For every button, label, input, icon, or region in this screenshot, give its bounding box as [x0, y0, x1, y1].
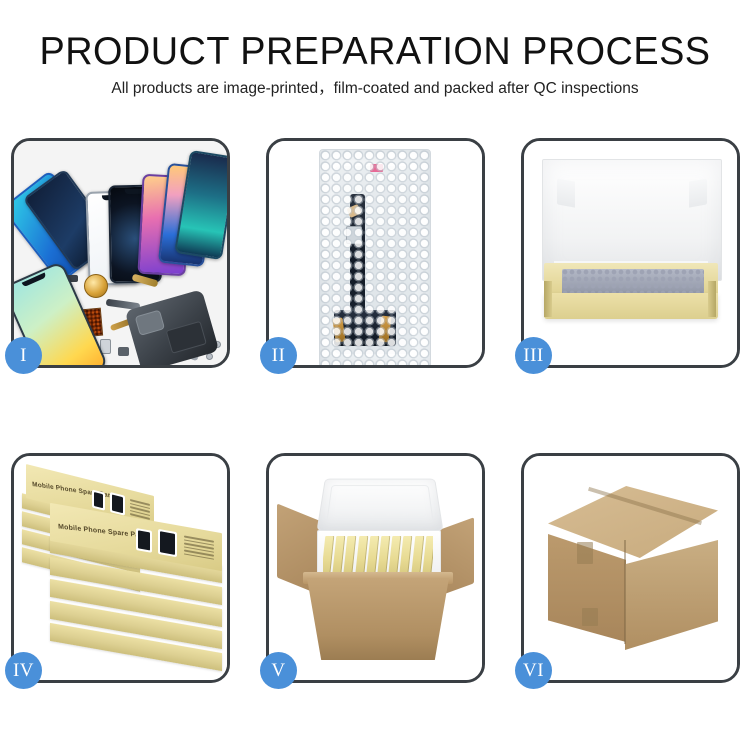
page-title: PRODUCT PREPARATION PROCESS [11, 30, 739, 74]
carton-tape-lower [582, 608, 598, 626]
gold-coil-component [84, 274, 108, 298]
foam-lid-inner-rim [326, 485, 433, 523]
step-panel-phone-parts-assortment: I [11, 138, 230, 368]
page-subtitle: All products are image-printed，film-coat… [0, 78, 750, 100]
wrapped-connector [346, 226, 362, 244]
product-preparation-infographic: PRODUCT PREPARATION PROCESS All products… [0, 0, 750, 750]
carton-tape-upper [577, 542, 593, 564]
box-spec-lines-front [184, 535, 214, 559]
pink-qc-label [370, 164, 383, 172]
step-image-phone-parts-assortment [14, 141, 227, 365]
tray-corner-left [544, 281, 552, 317]
lid-flap-right [689, 178, 707, 207]
carton-front-edge [624, 540, 626, 644]
lid-flap-left [557, 178, 575, 207]
tray-front-face [544, 293, 718, 319]
step-panel-sealed-shipping-carton: VI [521, 453, 740, 683]
step-panel-bubble-wrapped-part: II [266, 138, 485, 368]
step-image-sealed-shipping-carton [524, 456, 737, 680]
step-badge-6: VI [515, 652, 552, 689]
steps-grid: I II [11, 138, 739, 683]
box-stack: Mobile Phone Spare Parts [20, 474, 226, 670]
bubble-wrap-pouch [319, 149, 431, 365]
step-badge-1: I [5, 337, 42, 374]
step-image-stacked-retail-boxes: Mobile Phone Spare Parts [14, 456, 227, 680]
step-image-bubble-wrapped-part [269, 141, 482, 365]
step-panel-foam-lined-inner-box: III [521, 138, 740, 368]
foam-box-lid [317, 479, 444, 531]
tray-corner-right [708, 281, 716, 317]
step-badge-5: V [260, 652, 297, 689]
step-badge-2: II [260, 337, 297, 374]
step-panel-carton-with-foam-box: V [266, 453, 485, 683]
carton-body [307, 578, 449, 660]
box-art-screen-front-2 [158, 529, 177, 557]
header: PRODUCT PREPARATION PROCESS All products… [0, 30, 750, 100]
step-panel-stacked-retail-boxes: Mobile Phone Spare Parts [11, 453, 230, 683]
step-image-foam-lined-inner-box [524, 141, 737, 365]
camera-module [135, 310, 166, 336]
step-badge-3: III [515, 337, 552, 374]
box-art-screen-back-2 [110, 492, 125, 516]
battery-pack [166, 321, 207, 354]
box-art-screen-back-1 [92, 489, 105, 510]
small-component-5 [118, 347, 129, 356]
step-image-carton-with-foam-box [269, 456, 482, 680]
step-badge-4: IV [5, 652, 42, 689]
box-art-screen-front-1 [136, 528, 152, 553]
